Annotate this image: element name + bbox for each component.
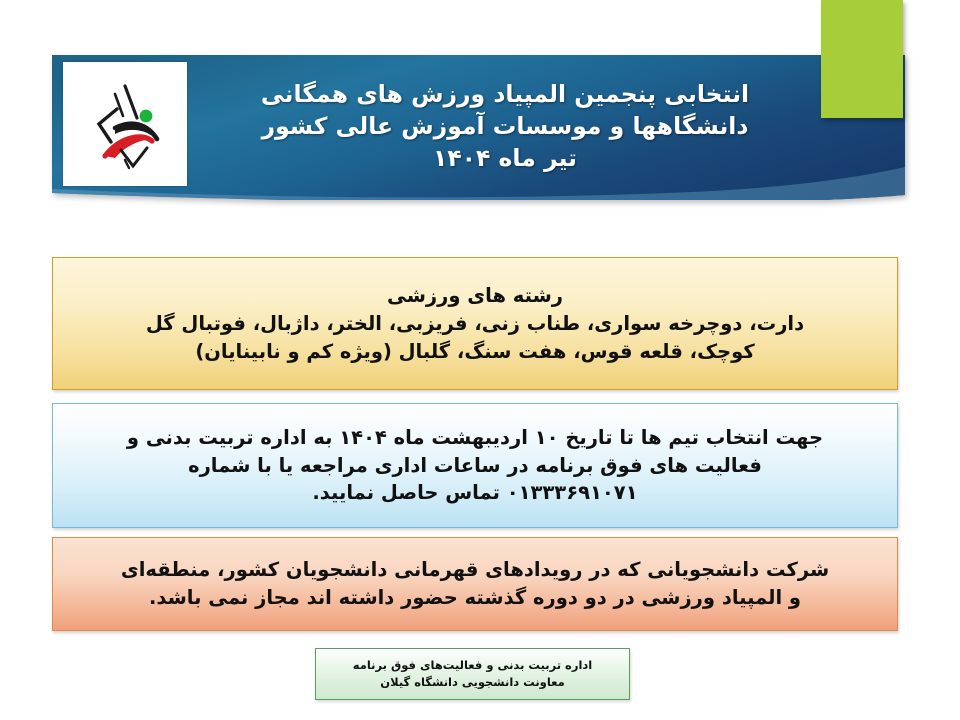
registration-line-3-phone: ۰۱۳۳۳۶۹۱۰۷۱ تماس حاصل نمایید. [312,479,637,507]
green-accent-block [821,0,903,118]
registration-info-box: جهت انتخاب تیم ها تا تاریخ ۱۰ اردیبهشت م… [52,403,898,528]
page-title-line-3: تیر ماه ۱۴۰۴ [433,143,577,175]
registration-line-1: جهت انتخاب تیم ها تا تاریخ ۱۰ اردیبهشت م… [127,424,823,452]
eligibility-restriction-box: شرکت دانشجویانی که در رویدادهای قهرمانی … [52,537,898,631]
registration-line-2: فعالیت های فوق برنامه در ساعات اداری مرا… [188,452,762,480]
page-title-line-1: انتخابی پنجمین المپیاد ورزش های همگانی [261,79,749,111]
sports-list-line-1: دارت، دوچرخه سواری، طناب زنی، فریزبی، ال… [146,310,804,337]
sports-disciplines-box: رشته های ورزشی دارت، دوچرخه سواری، طناب … [52,257,898,390]
footer-line-2: معاونت دانشجویی دانشگاه گیلان [380,674,564,691]
page-title: انتخابی پنجمین المپیاد ورزش های همگانی د… [195,58,815,196]
sports-list-line-2: کوچک، قلعه قوس، هفت سنگ، گلبال (ویژه کم … [195,338,754,365]
sports-box-title: رشته های ورزشی [387,282,563,309]
footer-line-1: اداره تربیت بدنی و فعالیت‌های فوق برنامه [353,657,593,674]
logo-green-dot [140,110,153,123]
eligibility-line-2: و المپیاد ورزشی در دو دوره گذشته حضور دا… [149,584,801,612]
header-banner: انتخابی پنجمین المپیاد ورزش های همگانی د… [52,55,905,200]
eligibility-line-1: شرکت دانشجویانی که در رویدادهای قهرمانی … [121,556,829,584]
university-sports-logo [63,62,187,186]
poster-canvas: انتخابی پنجمین المپیاد ورزش های همگانی د… [0,0,960,720]
logo-artwork [63,62,187,186]
page-title-line-2: دانشگاهها و موسسات آموزش عالی کشور [262,111,749,143]
organizer-footer-box: اداره تربیت بدنی و فعالیت‌های فوق برنامه… [315,648,630,700]
